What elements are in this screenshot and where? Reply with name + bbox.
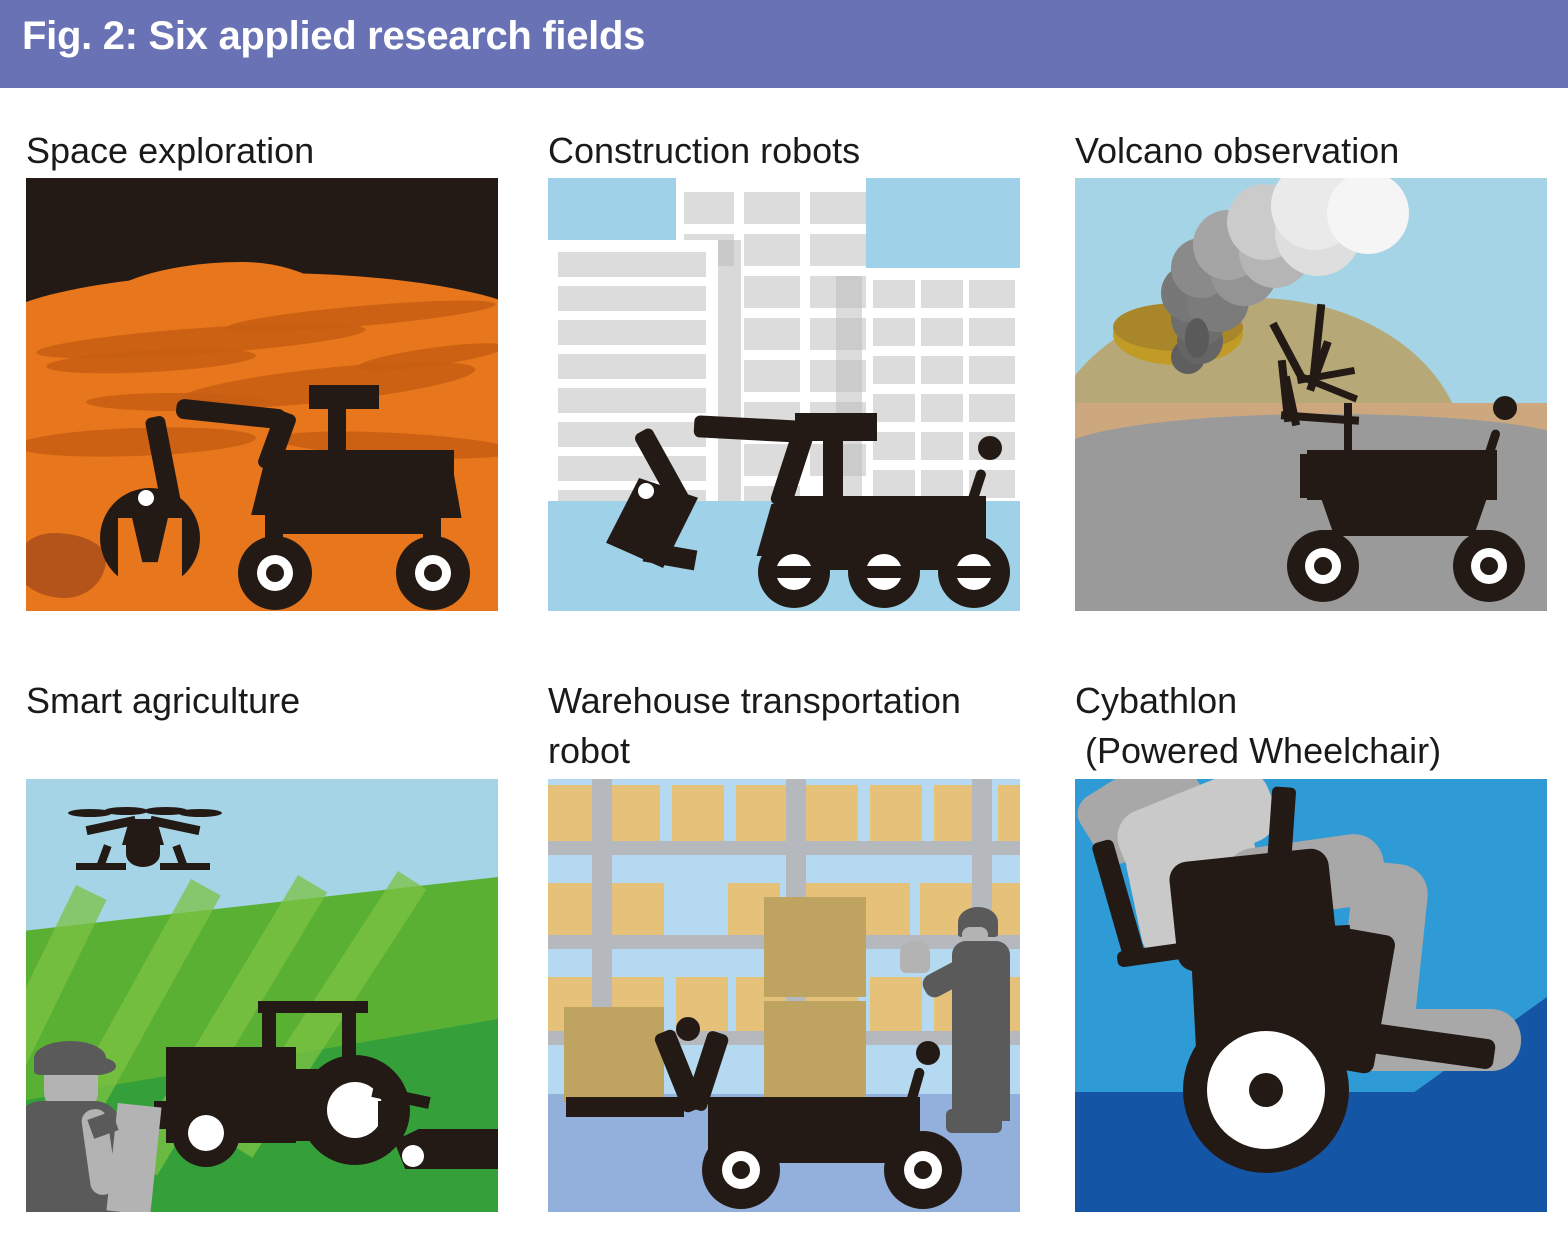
window	[873, 394, 915, 422]
shelf-box	[672, 785, 724, 841]
label-warehouse-robot: Warehouse transportationrobot	[548, 676, 961, 776]
window	[921, 470, 963, 498]
window-band	[558, 286, 706, 311]
smoke-puff	[1327, 178, 1409, 254]
drone-camera-pod	[126, 841, 160, 867]
drone-skid	[160, 863, 210, 870]
figure-banner: Fig. 2: Six applied research fields	[0, 0, 1568, 88]
window	[969, 394, 1015, 422]
panel-smart-agriculture	[26, 779, 498, 1212]
window	[921, 432, 963, 460]
shelf-box	[736, 785, 788, 841]
front-wheel-hub	[188, 1115, 224, 1151]
implement-roller	[402, 1145, 424, 1167]
window-band	[558, 422, 706, 447]
panel-warehouse-robot	[548, 779, 1020, 1212]
wheel-bar-front	[776, 566, 812, 578]
drone-rotor	[178, 809, 222, 817]
label-construction-robots: Construction robots	[548, 126, 860, 176]
window-band	[558, 320, 706, 345]
worker-hand	[900, 941, 930, 973]
window	[744, 360, 800, 392]
label-warehouse-line1: Warehouse transportation	[548, 680, 961, 721]
window	[744, 318, 800, 350]
sky-patch-left	[548, 178, 676, 240]
shelf-box	[998, 785, 1020, 841]
window	[684, 192, 734, 224]
rover-underbody	[276, 512, 441, 534]
window	[744, 276, 800, 308]
window-band	[558, 354, 706, 379]
label-cybathlon-line2: (Powered Wheelchair)	[1075, 730, 1441, 771]
antenna-ball-tip	[1493, 396, 1517, 420]
wheel-bar-middle	[866, 566, 902, 578]
window	[921, 394, 963, 422]
shelf-box	[806, 785, 858, 841]
panel-space-exploration	[26, 178, 498, 611]
farmer-cap-brim	[76, 1057, 116, 1075]
shelf-box	[548, 785, 592, 841]
rover-lower-body	[1321, 498, 1487, 536]
wheel-center-front	[266, 564, 284, 582]
figure-root: Fig. 2: Six applied research fields Spac…	[0, 0, 1568, 1241]
window	[810, 192, 866, 224]
worker-shoe	[946, 1109, 1002, 1133]
label-warehouse-line2: robot	[548, 730, 630, 771]
label-cybathlon-line1: Cybathlon	[1075, 680, 1237, 721]
window	[921, 280, 963, 308]
carried-box-top	[764, 897, 866, 997]
bucket-pivot-dot	[638, 483, 654, 499]
rover-front-block	[1300, 454, 1320, 498]
panel-volcano-observation	[1075, 178, 1547, 611]
rover-chassis	[276, 450, 454, 512]
window	[969, 356, 1015, 384]
label-volcano-observation: Volcano observation	[1075, 126, 1399, 176]
rover-mast	[328, 406, 346, 458]
foreground-box-left	[564, 1007, 664, 1102]
robot-lift-joint	[676, 1017, 700, 1041]
antenna-mast	[1344, 403, 1352, 461]
window	[921, 318, 963, 346]
shelf-box	[608, 785, 660, 841]
robot-fork	[566, 1097, 684, 1117]
building-column-shadow	[715, 240, 741, 516]
wheel-axle-hub	[1249, 1073, 1283, 1107]
rack-beam	[548, 841, 1020, 855]
window	[873, 280, 915, 308]
label-space-exploration: Space exploration	[26, 126, 314, 176]
antenna-ball-tip	[978, 436, 1002, 460]
gripper-pivot-dot	[138, 490, 154, 506]
wheel-bar-rear	[956, 566, 992, 578]
window	[873, 432, 915, 460]
window	[969, 280, 1015, 308]
shelf-box	[870, 977, 922, 1039]
figure-title: Fig. 2: Six applied research fields	[22, 14, 645, 59]
sky-patch-right	[866, 178, 1020, 268]
implement-post	[378, 1101, 390, 1153]
panel-cybathlon	[1075, 779, 1547, 1212]
robot-mast	[823, 438, 843, 500]
window	[969, 318, 1015, 346]
smoke-stem	[1185, 318, 1209, 358]
window	[873, 356, 915, 384]
carried-box-bottom	[764, 1001, 866, 1101]
window-band	[558, 252, 706, 277]
window	[744, 192, 800, 224]
antenna-ball-tip	[916, 1041, 940, 1065]
wheel-center-rear	[914, 1161, 932, 1179]
window	[873, 318, 915, 346]
wheel-center-front	[732, 1161, 750, 1179]
window-band	[558, 388, 706, 413]
drone-rotor	[104, 807, 148, 815]
window	[810, 234, 866, 266]
wheel-center-rear	[1480, 557, 1498, 575]
window	[744, 234, 800, 266]
window	[921, 356, 963, 384]
wheel-center-rear	[424, 564, 442, 582]
rover-chassis	[1307, 450, 1497, 500]
label-smart-agriculture: Smart agriculture	[26, 676, 300, 726]
window	[873, 470, 915, 498]
wheel-center-front	[1314, 557, 1332, 575]
panel-construction-robots	[548, 178, 1020, 611]
shelf-box	[870, 785, 922, 841]
label-cybathlon: Cybathlon (Powered Wheelchair)	[1075, 676, 1441, 776]
window-band	[558, 456, 706, 481]
drone-skid	[76, 863, 126, 870]
